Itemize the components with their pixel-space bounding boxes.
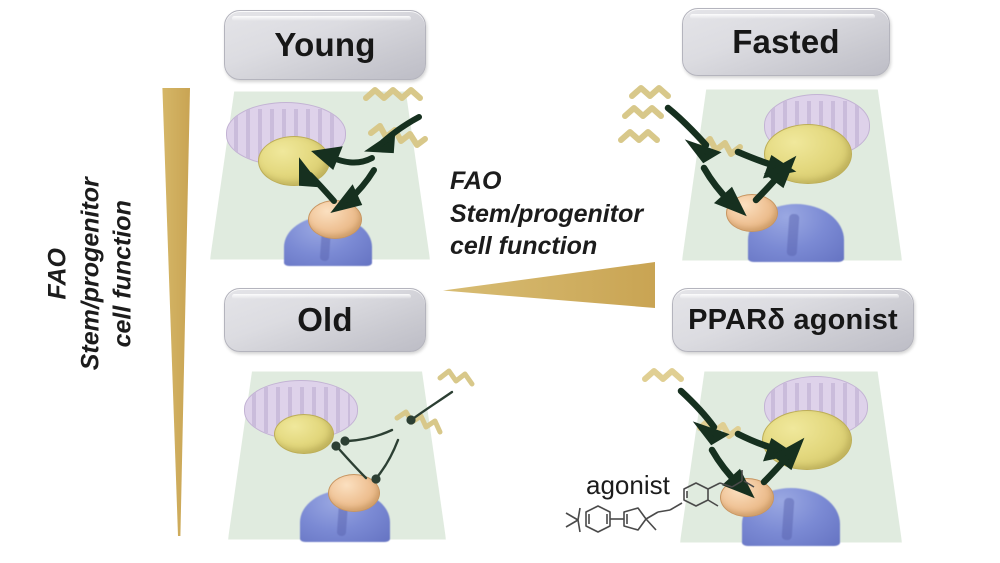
vertical-gradient-triangle-icon <box>160 88 190 536</box>
cell-nucleus-icon <box>328 474 380 512</box>
figure-canvas: FAO Stem/progenitor cell function FAO St… <box>0 0 1000 563</box>
panel-title-fasted[interactable]: Fasted <box>682 8 890 76</box>
lipid-droplet-icon <box>762 410 852 470</box>
cell-diagram-young <box>210 88 430 263</box>
lipid-droplet-icon <box>274 414 334 454</box>
cell-diagram-fasted <box>682 86 902 264</box>
lipid-droplet-icon <box>258 136 330 186</box>
cell-nucleus-icon <box>720 478 774 517</box>
cell-nucleus-icon <box>726 194 778 232</box>
center-axis-label: FAO Stem/progenitor cell function <box>450 165 643 263</box>
panel-title-old[interactable]: Old <box>224 288 426 352</box>
cell-nucleus-icon <box>308 200 362 239</box>
panel-title-ppard-agonist[interactable]: PPARδ agonist <box>672 288 914 352</box>
cell-diagram-old <box>228 368 446 543</box>
lipid-droplet-icon <box>764 124 852 184</box>
agonist-annotation-label: agonist <box>586 470 670 501</box>
cell-diagram-ppard-agonist <box>680 368 902 546</box>
horizontal-gradient-triangle-icon <box>443 262 655 308</box>
panel-title-young[interactable]: Young <box>224 10 426 80</box>
vertical-axis-label: FAO Stem/progenitor cell function <box>41 124 139 424</box>
